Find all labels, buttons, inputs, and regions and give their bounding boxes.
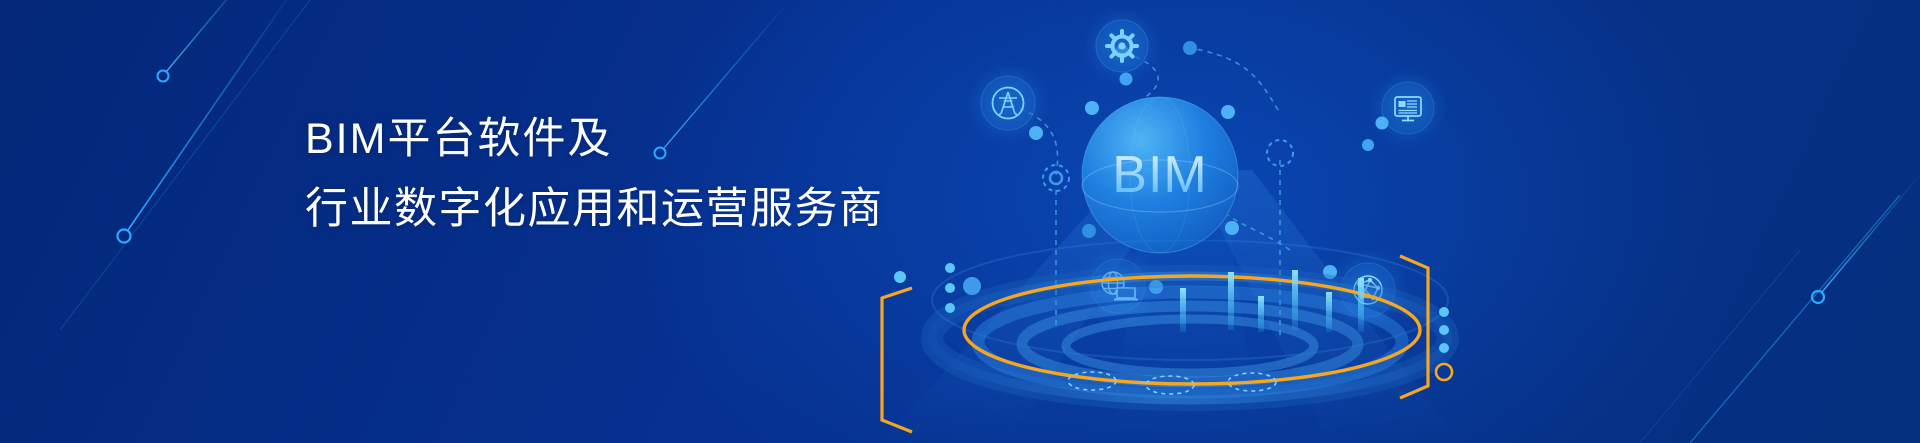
headline-line-2: 行业数字化应用和运营服务商 (305, 175, 884, 245)
node-monitor-dot-2 (1362, 139, 1374, 151)
bim-core-label: BIM (1112, 146, 1207, 204)
node-power-tower[interactable] (966, 61, 1050, 145)
accent-dot-b (894, 271, 906, 283)
hero-banner: BIM平台软件及 行业数字化应用和运营服务商 (0, 0, 1920, 443)
dot-cluster-left (945, 263, 955, 313)
headline-line-1: BIM平台软件及 (305, 105, 884, 175)
accent-dot-a (963, 277, 981, 295)
bim-illustration: BIM (860, 0, 1500, 443)
comet-line-left-short (158, 0, 259, 82)
bim-illustration-svg: BIM (860, 0, 1500, 443)
node-gear-dot (1120, 73, 1133, 86)
comet-streak-right-a (1690, 195, 1900, 443)
dot-cluster-right (1439, 307, 1449, 353)
node-monitor-dot (1376, 117, 1389, 130)
comet-line-left-long (118, 0, 301, 243)
node-monitor[interactable] (1362, 68, 1448, 151)
gear-icon (1107, 31, 1137, 61)
comet-line-right (1812, 170, 1920, 303)
node-gear[interactable] (1082, 6, 1162, 86)
comet-streak-right-b (1640, 250, 1800, 443)
node-tower-dot (1029, 126, 1043, 140)
banner-headline: BIM平台软件及 行业数字化应用和运营服务商 (305, 105, 884, 244)
accent-ring-dot (1436, 364, 1452, 380)
bracket-left (882, 288, 912, 432)
bim-core-sphere: BIM (1082, 97, 1238, 253)
